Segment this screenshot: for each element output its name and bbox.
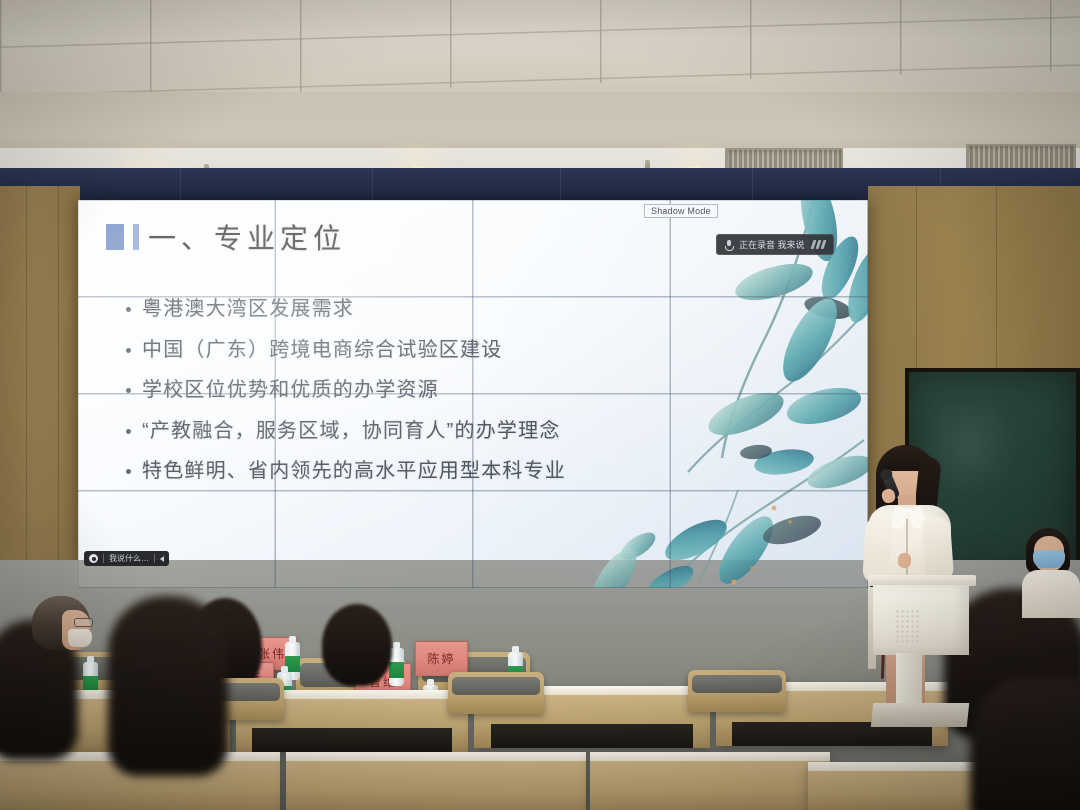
slide-title-group: 一、专业定位 xyxy=(106,217,346,257)
bullet-text: 学校区位优势和优质的办学资源 xyxy=(142,379,439,403)
bullet-text: “产教融合，服务区域，协同育人”的办学理念 xyxy=(142,420,561,444)
glasses-icon xyxy=(74,618,93,627)
audience-member-with-glasses xyxy=(32,596,94,660)
seated-attendee-masked xyxy=(1022,528,1080,618)
bullet-item: 中国（广东）跨境电商综合试验区建设 xyxy=(126,339,666,363)
slide-title-text: 一、专业定位 xyxy=(148,217,346,257)
bullet-item: “产教融合，服务区域，协同育人”的办学理念 xyxy=(126,420,666,444)
floating-recording-toolbar[interactable]: 正在录音 我来说 xyxy=(716,234,834,255)
presenter-arm-left xyxy=(862,516,892,583)
assistant-hint-label: 我说什么… xyxy=(109,553,149,564)
recording-status-label: 正在录音 我来说 xyxy=(739,238,805,251)
classroom-desk xyxy=(286,752,586,810)
podium-base xyxy=(871,703,970,727)
podium xyxy=(868,575,976,735)
podium-body xyxy=(873,585,969,655)
bullet-dot-icon xyxy=(126,469,131,474)
name-card-text: 陈婷 xyxy=(427,650,455,667)
seat-back xyxy=(448,672,544,714)
foreground-head xyxy=(970,676,1080,810)
bullet-text: 中国（广东）跨境电商综合试验区建设 xyxy=(142,339,502,363)
divider xyxy=(103,554,104,563)
face-mask-icon xyxy=(68,629,92,647)
bullet-item: 特色鲜明、省内领先的高水平应用型本科专业 xyxy=(126,460,666,484)
name-card: 陈婷 xyxy=(415,641,468,676)
podium-speaker-grille-icon xyxy=(895,609,921,645)
presenter-hand-gesturing xyxy=(898,553,911,568)
lcd-video-wall: 一、专业定位 粤港澳大湾区发展需求 中国（广东）跨境电商综合试验区建设 学校区位… xyxy=(78,200,868,588)
bullet-dot-icon xyxy=(126,388,131,393)
bullet-text: 粤港澳大湾区发展需求 xyxy=(142,298,354,322)
lecture-hall-photo: 一、专业定位 粤港澳大湾区发展需求 中国（广东）跨境电商综合试验区建设 学校区位… xyxy=(0,0,1080,810)
signal-strokes-icon[interactable] xyxy=(812,240,825,249)
ceiling-tile-grid xyxy=(0,0,1080,100)
record-icon[interactable] xyxy=(89,554,98,563)
divider xyxy=(154,554,155,563)
seat-back xyxy=(688,670,786,712)
ceiling xyxy=(0,0,1080,100)
shadow-mode-badge: Shadow Mode xyxy=(644,204,718,218)
presentation-slide: 一、专业定位 粤港澳大湾区发展需求 中国（广东）跨境电商综合试验区建设 学校区位… xyxy=(78,200,868,588)
title-accent-bar-icon xyxy=(133,224,139,250)
name-card-text: 张伟 xyxy=(258,645,286,662)
chevron-right-icon[interactable] xyxy=(160,556,164,562)
attendee-torso xyxy=(1022,570,1080,618)
slide-bullet-list: 粤港澳大湾区发展需求 中国（广东）跨境电商综合试验区建设 学校区位优势和优质的办… xyxy=(126,298,666,501)
bullet-item: 学校区位优势和优质的办学资源 xyxy=(126,379,666,403)
corner-assistant-toolbar[interactable]: 我说什么… xyxy=(84,551,169,566)
foreground-head xyxy=(108,596,228,776)
bullet-dot-icon xyxy=(126,307,131,312)
microphone-icon[interactable] xyxy=(725,240,732,250)
audience-head xyxy=(322,604,392,686)
bullet-text: 特色鲜明、省内领先的高水平应用型本科专业 xyxy=(142,460,566,484)
presenter-arm-right xyxy=(922,516,954,582)
bullet-item: 粤港澳大湾区发展需求 xyxy=(126,298,666,322)
bullet-dot-icon xyxy=(126,348,131,353)
classroom-desk xyxy=(590,752,830,810)
bullet-dot-icon xyxy=(126,429,131,434)
face-mask-icon xyxy=(1033,550,1065,568)
title-accent-block-icon xyxy=(106,224,124,250)
